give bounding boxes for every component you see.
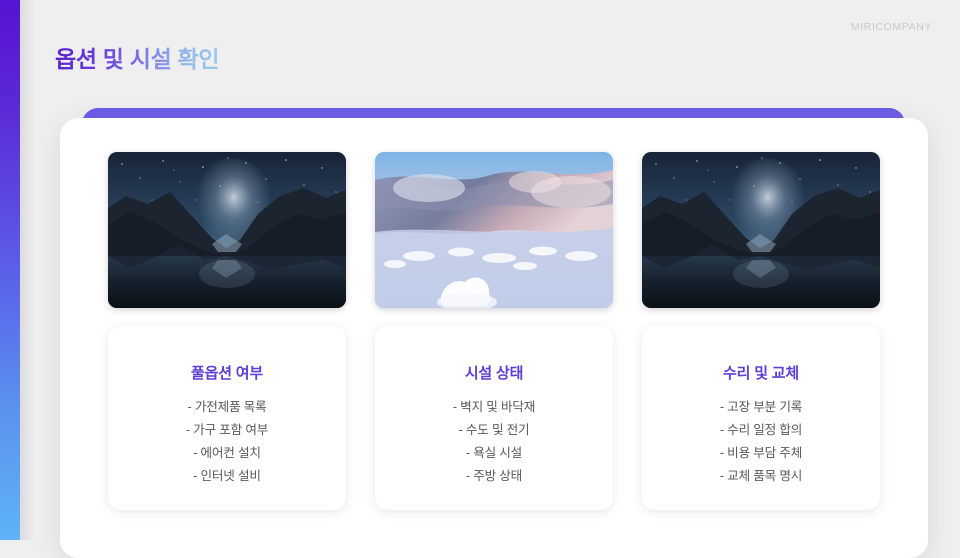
- info-card-list: - 가전제품 목록 - 가구 포함 여부 - 에어컨 설치 - 인터넷 설비: [186, 396, 268, 488]
- side-rail-gradient: [0, 0, 20, 540]
- column-1: 풀옵션 여부 - 가전제품 목록 - 가구 포함 여부 - 에어컨 설치 - 인…: [108, 152, 346, 558]
- list-item: - 가전제품 목록: [186, 396, 268, 419]
- column-group: 풀옵션 여부 - 가전제품 목록 - 가구 포함 여부 - 에어컨 설치 - 인…: [60, 118, 928, 558]
- info-card-2: 시설 상태 - 벽지 및 바닥재 - 수도 및 전기 - 욕실 시설 - 주방 …: [375, 326, 613, 510]
- list-item: - 수리 일정 합의: [720, 419, 802, 442]
- list-item: - 주방 상태: [453, 465, 535, 488]
- info-card-1: 풀옵션 여부 - 가전제품 목록 - 가구 포함 여부 - 에어컨 설치 - 인…: [108, 326, 346, 510]
- info-card-list: - 고장 부분 기록 - 수리 일정 합의 - 비용 부담 주체 - 교체 품목…: [720, 396, 802, 488]
- list-item: - 가구 포함 여부: [186, 419, 268, 442]
- list-item: - 교체 품목 명시: [720, 465, 802, 488]
- list-item: - 욕실 시설: [453, 442, 535, 465]
- info-card-title: 시설 상태: [465, 362, 523, 383]
- list-item: - 수도 및 전기: [453, 419, 535, 442]
- night-sky-mountain-lake-photo: [108, 152, 346, 308]
- brand-logo: MIRICOMPANY: [851, 21, 932, 33]
- night-sky-mountain-lake-photo: [642, 152, 880, 308]
- column-2: 시설 상태 - 벽지 및 바닥재 - 수도 및 전기 - 욕실 시설 - 주방 …: [375, 152, 613, 558]
- column-3: 수리 및 교체 - 고장 부분 기록 - 수리 일정 합의 - 비용 부담 주체…: [642, 152, 880, 558]
- info-card-title: 수리 및 교체: [723, 362, 799, 383]
- info-card-3: 수리 및 교체 - 고장 부분 기록 - 수리 일정 합의 - 비용 부담 주체…: [642, 326, 880, 510]
- list-item: - 벽지 및 바닥재: [453, 396, 535, 419]
- info-card-list: - 벽지 및 바닥재 - 수도 및 전기 - 욕실 시설 - 주방 상태: [453, 396, 535, 488]
- page-title: 옵션 및 시설 확인: [55, 40, 219, 74]
- list-item: - 인터넷 설비: [186, 465, 268, 488]
- pastel-clouds-aerial-photo: [375, 152, 613, 308]
- list-item: - 에어컨 설치: [186, 442, 268, 465]
- info-card-title: 풀옵션 여부: [191, 362, 263, 383]
- side-rail-shadow: [20, 0, 36, 540]
- list-item: - 고장 부분 기록: [720, 396, 802, 419]
- list-item: - 비용 부담 주체: [720, 442, 802, 465]
